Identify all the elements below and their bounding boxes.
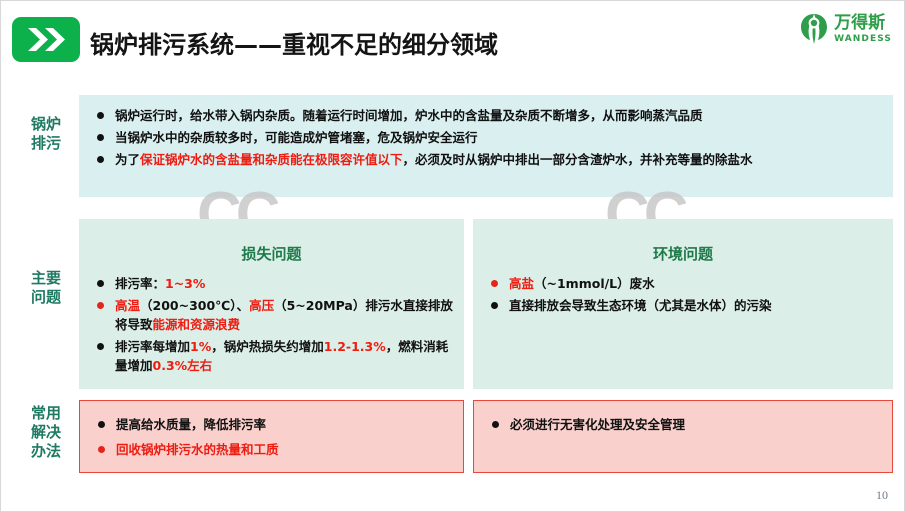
loss-problems-heading: 损失问题: [79, 243, 464, 264]
list-item: 回收锅炉排污水的热量和工质: [94, 440, 453, 459]
text-run: 当锅炉水中的杂质较多时，可能造成炉管堵塞，危及锅炉安全运行: [115, 130, 478, 145]
boiler-bullet-list: 锅炉运行时，给水带入锅内杂质。随着运行时间增加，炉水中的含盐量及杂质不断增多，从…: [93, 106, 879, 169]
row-label-boiler-line2: 排污: [15, 134, 77, 153]
row-label-boiler-line1: 锅炉: [15, 115, 77, 134]
text-run: 保证锅炉水的含盐量和杂质能在极限容许值以下: [140, 152, 403, 167]
text-run: （200~300℃）、: [140, 298, 249, 313]
text-run: 排污率每增加: [115, 339, 190, 354]
list-item: 锅炉运行时，给水带入锅内杂质。随着运行时间增加，炉水中的含盐量及杂质不断增多，从…: [93, 106, 879, 125]
page-number: 10: [876, 488, 888, 503]
solution-left-box: 提高给水质量，降低排污率回收锅炉排污水的热量和工质: [79, 400, 464, 473]
text-run: 0.3%左右: [153, 358, 213, 373]
row-label-problem-line2: 问题: [15, 288, 77, 307]
environment-problems-heading: 环境问题: [473, 243, 893, 264]
text-run: 高压: [249, 298, 274, 313]
list-item: 直接排放会导致生态环境（尤其是水体）的污染: [487, 296, 883, 315]
row-label-solution-line2: 解决: [15, 423, 77, 442]
row-label-common-solutions: 常用 解决 办法: [15, 404, 77, 461]
slide-header: 锅炉排污系统——重视不足的细分领域 万得斯 WANDESS: [1, 1, 905, 79]
row-label-solution-line1: 常用: [15, 404, 77, 423]
text-run: 高温: [115, 298, 140, 313]
list-item: 高盐（~1mmol/L）废水: [487, 274, 883, 293]
wandess-leaf-logo-icon: [799, 13, 829, 45]
list-item: 高温（200~300℃）、高压（5~20MPa）排污水直接排放将导致能源和资源浪…: [93, 296, 454, 334]
row-label-boiler: 锅炉 排污: [15, 115, 77, 153]
text-run: 锅炉运行时，给水带入锅内杂质。随着运行时间增加，炉水中的含盐量及杂质不断增多，从…: [115, 108, 703, 123]
logo-name-cn: 万得斯: [834, 15, 892, 32]
text-run: 1~3%: [165, 276, 205, 291]
row-label-problem-line1: 主要: [15, 269, 77, 288]
text-run: 排污率：: [115, 276, 165, 291]
text-run: ，锅炉热损失约增加: [211, 339, 324, 354]
solution-left-bullet-list: 提高给水质量，降低排污率回收锅炉排污水的热量和工质: [94, 415, 453, 459]
text-run: 能源和资源浪费: [153, 317, 241, 332]
list-item: 排污率：1~3%: [93, 274, 454, 293]
text-run: （~1mmol/L）废水: [534, 276, 655, 291]
text-run: ，必须及时从锅炉中排出一部分含渣炉水，并补充等量的除盐水: [403, 152, 753, 167]
list-item: 当锅炉水中的杂质较多时，可能造成炉管堵塞，危及锅炉安全运行: [93, 128, 879, 147]
text-run: 回收锅炉排污水的热量和工质: [116, 442, 279, 457]
row-label-solution-line3: 办法: [15, 442, 77, 461]
text-run: 1%: [190, 339, 211, 354]
list-item: 提高给水质量，降低排污率: [94, 415, 453, 434]
list-item: 必须进行无害化处理及安全管理: [488, 415, 882, 434]
slide-canvas: 锅炉排污系统——重视不足的细分领域 万得斯 WANDESS 锅炉 排污 主要 问…: [0, 0, 905, 512]
loss-bullet-list: 排污率：1~3%高温（200~300℃）、高压（5~20MPa）排污水直接排放将…: [93, 274, 454, 375]
text-run: 1.2-1.3%: [324, 339, 386, 354]
double-chevron-right-icon: [12, 17, 80, 62]
text-run: 为了: [115, 152, 140, 167]
row-label-main-problems: 主要 问题: [15, 269, 77, 307]
boiler-blowdown-box: 锅炉运行时，给水带入锅内杂质。随着运行时间增加，炉水中的含盐量及杂质不断增多，从…: [79, 95, 893, 197]
page-title: 锅炉排污系统——重视不足的细分领域: [90, 25, 498, 60]
text-run: 必须进行无害化处理及安全管理: [510, 417, 685, 432]
logo-name-en: WANDESS: [834, 35, 892, 44]
text-run: 直接排放会导致生态环境（尤其是水体）的污染: [509, 298, 772, 313]
solution-right-box: 必须进行无害化处理及安全管理: [473, 400, 893, 473]
list-item: 排污率每增加1%，锅炉热损失约增加1.2-1.3%，燃料消耗量增加0.3%左右: [93, 337, 454, 375]
environment-problems-box: 环境问题 高盐（~1mmol/L）废水直接排放会导致生态环境（尤其是水体）的污染: [473, 219, 893, 389]
solution-right-bullet-list: 必须进行无害化处理及安全管理: [488, 415, 882, 434]
text-run: 提高给水质量，降低排污率: [116, 417, 266, 432]
loss-problems-box: 损失问题 排污率：1~3%高温（200~300℃）、高压（5~20MPa）排污水…: [79, 219, 464, 389]
environment-bullet-list: 高盐（~1mmol/L）废水直接排放会导致生态环境（尤其是水体）的污染: [487, 274, 883, 315]
brand-logo: 万得斯 WANDESS: [799, 13, 892, 45]
text-run: 高盐: [509, 276, 534, 291]
list-item: 为了保证锅炉水的含盐量和杂质能在极限容许值以下，必须及时从锅炉中排出一部分含渣炉…: [93, 150, 879, 169]
